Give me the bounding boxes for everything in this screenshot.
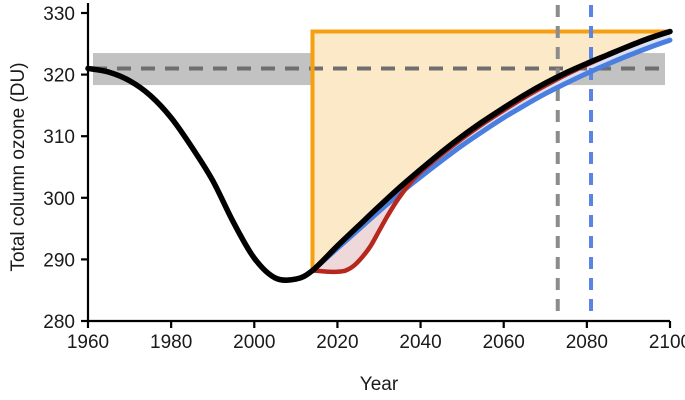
x-tick-label: 1980 <box>150 332 192 353</box>
x-tick-label: 2000 <box>233 332 275 353</box>
x-tick-label: 2060 <box>483 332 525 353</box>
x-axis-tick-labels: 19601980200020202040206020802100 <box>67 332 685 353</box>
y-tick-label: 290 <box>43 250 75 271</box>
y-tick-label: 330 <box>43 4 75 25</box>
chart-canvas: 19601980200020202040206020802100 2802903… <box>0 0 685 400</box>
y-tick-label: 300 <box>43 189 75 210</box>
y-tick-label: 280 <box>43 312 75 333</box>
x-tick-label: 2020 <box>316 332 358 353</box>
y-tick-label: 320 <box>43 66 75 87</box>
x-tick-label: 2040 <box>399 332 441 353</box>
x-tick-label: 1960 <box>67 332 109 353</box>
x-tick-label: 2100 <box>649 332 685 353</box>
y-axis-tick-labels: 280290300310320330 <box>43 4 75 333</box>
x-tick-label: 2080 <box>566 332 608 353</box>
y-axis-title: Total column ozone (DU) <box>8 62 29 271</box>
y-tick-label: 310 <box>43 127 75 148</box>
x-axis-title: Year <box>360 374 399 395</box>
ozone-recovery-chart: 19601980200020202040206020802100 2802903… <box>0 0 685 400</box>
